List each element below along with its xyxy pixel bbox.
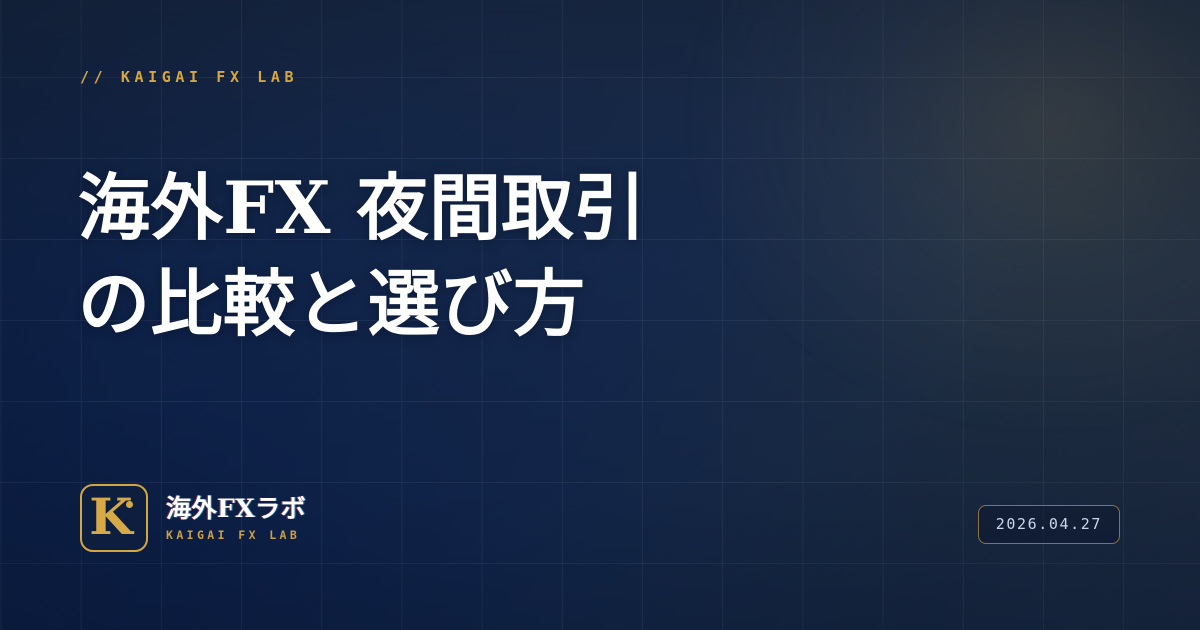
- page-title: 海外FX 夜間取引 の比較と選び方: [78, 160, 798, 352]
- brand-text-block: 海外FXラボ KAIGAI FX LAB: [166, 495, 306, 542]
- logo-letter-k: K: [89, 492, 132, 542]
- page-title-line-2: の比較と選び方: [78, 256, 798, 352]
- brand-lockup: K 海外FXラボ KAIGAI FX LAB: [80, 484, 306, 552]
- og-card: // KAIGAI FX LAB 海外FX 夜間取引 の比較と選び方 K 海外F…: [0, 0, 1200, 630]
- eyebrow-label: // KAIGAI FX LAB: [80, 68, 298, 86]
- card-content: // KAIGAI FX LAB 海外FX 夜間取引 の比較と選び方 K 海外F…: [0, 0, 1200, 630]
- logo-dot-icon: [126, 501, 133, 508]
- page-title-line-1: 海外FX 夜間取引: [78, 160, 798, 256]
- logo-mark: K: [80, 484, 148, 552]
- brand-name: 海外FXラボ: [166, 495, 306, 523]
- publish-date-badge: 2026.04.27: [978, 505, 1120, 544]
- brand-subtitle: KAIGAI FX LAB: [166, 528, 306, 542]
